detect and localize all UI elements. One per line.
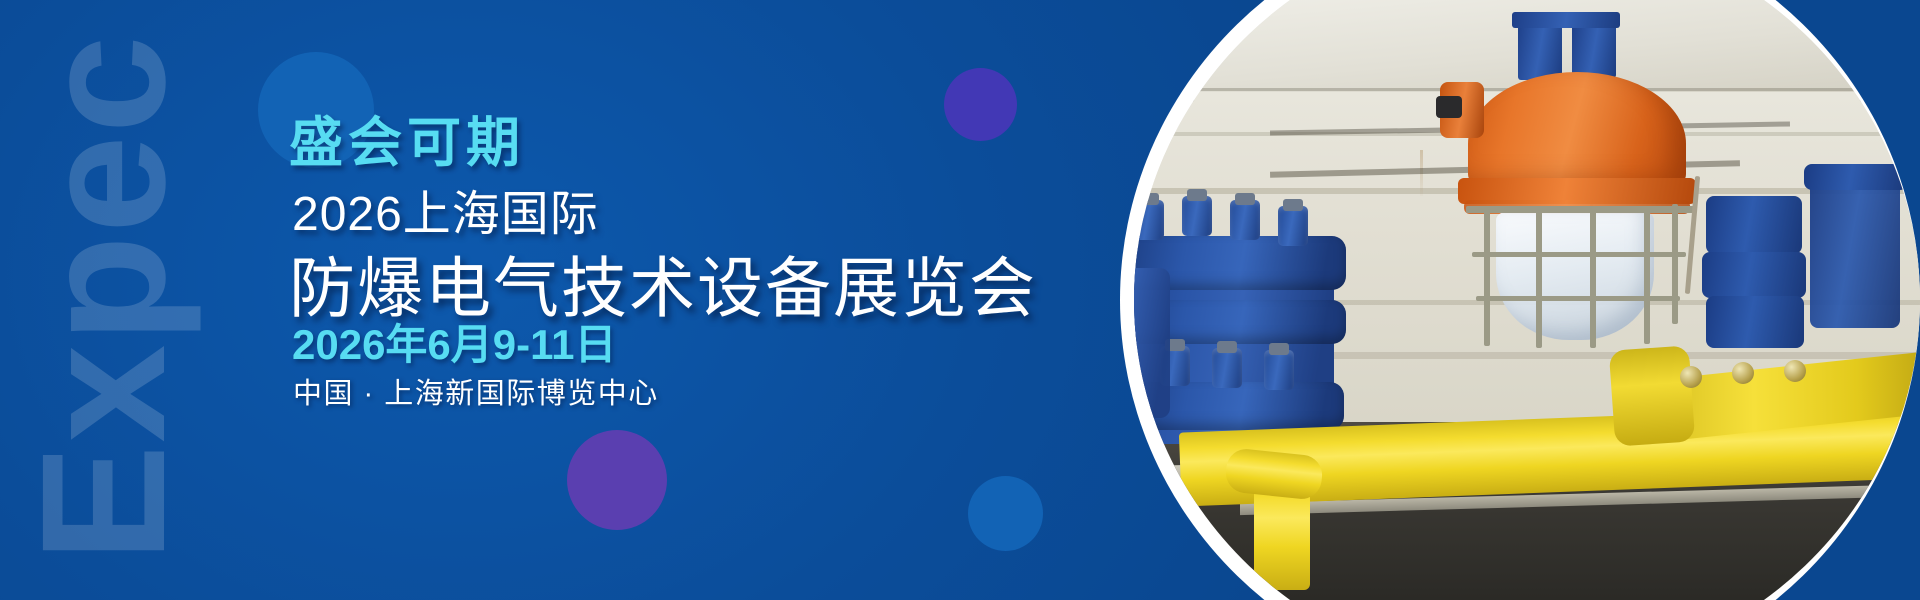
yellow-pipe-flange <box>1609 345 1696 446</box>
blue-valve-right <box>1810 178 1900 328</box>
lamp-cage-bar <box>1472 252 1686 257</box>
kicker-text: 盛会可期 <box>289 98 525 177</box>
lamp-cage-bar <box>1536 206 1542 348</box>
pipe-bolt <box>1784 360 1806 382</box>
valve-bolt <box>1278 206 1308 246</box>
subtitle-text: 2026上海国际 <box>292 174 599 244</box>
headline-block: 盛会可期 2026上海国际 防爆电气技术设备展览会 2026年6月9-11日 中… <box>289 0 1049 600</box>
lamp-cage-bar <box>1644 206 1650 344</box>
photo-circular-mask <box>1134 0 1920 600</box>
blue-valve-right-flange <box>1804 164 1908 190</box>
valve-bolt <box>1264 350 1294 390</box>
event-date: 2026年6月9-11日 <box>292 311 617 372</box>
lamp-cage-bar <box>1466 206 1694 213</box>
exhibition-banner: Expec 盛会可期 2026上海国际 防爆电气技术设备展览会 2026年6月9… <box>0 0 1920 600</box>
lamp-cage-bar <box>1672 204 1678 324</box>
industrial-photo <box>1134 0 1920 600</box>
event-venue: 中国 · 上海新国际博览中心 <box>293 370 659 412</box>
valve-bolt <box>1212 348 1242 388</box>
lamp-cage-bar <box>1484 206 1490 346</box>
lamp-cage-bar <box>1590 206 1596 348</box>
lamp-bracket <box>1572 22 1616 78</box>
blue-valve-right <box>1706 196 1802 254</box>
photo-panel <box>1060 0 1920 600</box>
valve-bolt <box>1230 200 1260 240</box>
pipe-bolt <box>1732 362 1754 384</box>
valve-bolt <box>1134 200 1164 240</box>
blue-valve-right <box>1706 296 1804 348</box>
lamp-conduit-port <box>1436 96 1462 118</box>
blue-valve-body <box>1134 268 1170 418</box>
blue-valve-right <box>1702 252 1806 298</box>
lamp-bracket-plate <box>1512 12 1620 28</box>
valve-bolt <box>1182 196 1212 236</box>
pipe-bolt <box>1680 366 1702 388</box>
lamp-glass-globe <box>1496 212 1654 340</box>
